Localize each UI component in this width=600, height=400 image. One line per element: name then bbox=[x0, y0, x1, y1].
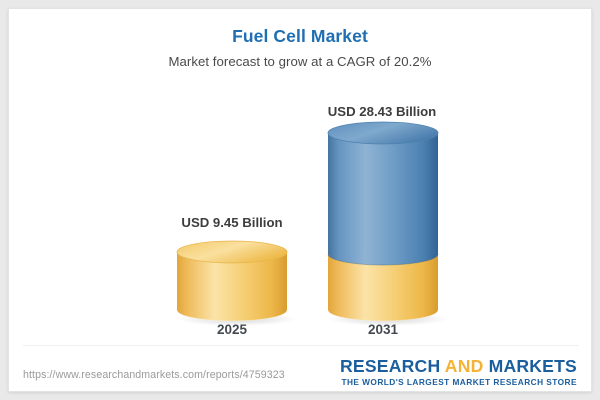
logo-word-research: RESEARCH bbox=[340, 356, 445, 376]
bar-2025[interactable] bbox=[167, 231, 297, 327]
logo-tagline: THE WORLD'S LARGEST MARKET RESEARCH STOR… bbox=[340, 378, 577, 387]
logo-word-markets: MARKETS bbox=[484, 356, 577, 376]
chart-plot-area: USD 9.45 Billion 2025 bbox=[9, 9, 593, 393]
research-and-markets-logo[interactable]: RESEARCH AND MARKETS THE WORLD'S LARGEST… bbox=[340, 357, 577, 388]
bar-2031-category-label: 2031 bbox=[317, 322, 449, 337]
chart-card: Fuel Cell Market Market forecast to grow… bbox=[8, 8, 592, 392]
bar-2025-top-cap bbox=[177, 241, 287, 263]
logo-word-and: AND bbox=[445, 356, 484, 376]
footer-divider bbox=[23, 345, 579, 346]
bar-2031-value-label: USD 28.43 Billion bbox=[312, 104, 452, 119]
bar-2031-top-cap bbox=[328, 122, 438, 144]
bar-2025-value-label: USD 9.45 Billion bbox=[167, 215, 297, 230]
bar-2031-blue-segment bbox=[328, 133, 438, 265]
source-url-link[interactable]: https://www.researchandmarkets.com/repor… bbox=[23, 369, 285, 381]
bar-2031[interactable] bbox=[317, 119, 449, 327]
bar-2025-category-label: 2025 bbox=[167, 322, 297, 337]
logo-wordmark: RESEARCH AND MARKETS bbox=[340, 357, 577, 375]
